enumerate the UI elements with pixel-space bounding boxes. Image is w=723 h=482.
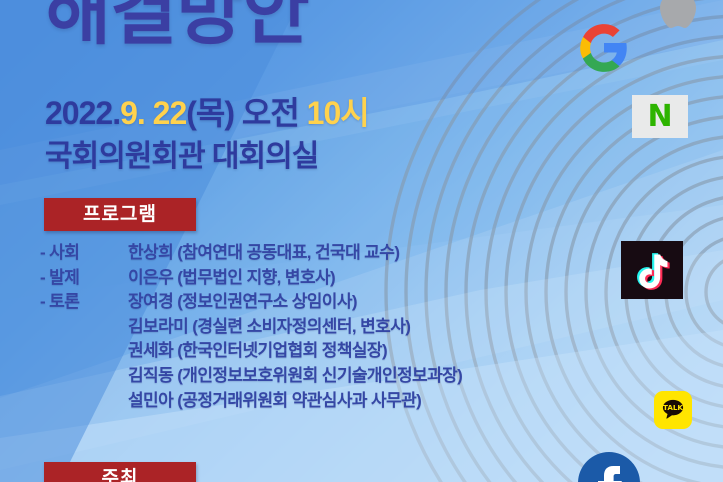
- poster-canvas: 해결방안 2022.9. 22(목) 오전 10시 국회의원회관 대회의실 프로…: [0, 0, 723, 482]
- page-title: 해결방안: [44, 0, 309, 49]
- program-person: 김보라미 (경실련 소비자정의센터, 변호사): [128, 312, 410, 337]
- kakaotalk-logo: TALK: [654, 391, 692, 429]
- program-list: - 사회 한상희 (참여연대 공동대표, 건국대 교수) - 발제 이은우 (법…: [40, 238, 462, 410]
- program-row: 김직동 (개인정보보호위원회 신기술개인정보과장): [40, 361, 462, 386]
- program-person: 김직동 (개인정보보호위원회 신기술개인정보과장): [128, 361, 462, 386]
- poster-text-content: 해결방안 2022.9. 22(목) 오전 10시 국회의원회관 대회의실 프로…: [0, 0, 560, 482]
- google-logo: [578, 22, 630, 74]
- time-highlight: 10시: [307, 95, 369, 131]
- program-row: - 발제 이은우 (법무법인 지향, 변호사): [40, 263, 462, 288]
- apple-logo: [648, 0, 704, 42]
- program-row: - 토론 장여경 (정보인권연구소 상임이사): [40, 287, 462, 312]
- naver-logo: N: [632, 95, 688, 138]
- date-highlight: 9. 22: [120, 95, 186, 131]
- program-row: - 사회 한상희 (참여연대 공동대표, 건국대 교수): [40, 238, 462, 263]
- event-datetime: 2022.9. 22(목) 오전 10시: [45, 88, 369, 134]
- program-row: 설민아 (공정거래위원회 약관심사과 사무관): [40, 386, 462, 411]
- program-role: - 발제: [40, 263, 128, 288]
- host-badge: 주최: [44, 462, 196, 482]
- event-venue: 국회의원회관 대회의실: [45, 131, 318, 175]
- program-role: - 사회: [40, 238, 128, 263]
- svg-text:TALK: TALK: [663, 403, 683, 412]
- program-person: 설민아 (공정거래위원회 약관심사과 사무관): [128, 386, 421, 411]
- program-role: - 토론: [40, 287, 128, 312]
- program-row: 김보라미 (경실련 소비자정의센터, 변호사): [40, 312, 462, 337]
- program-row: 권세화 (한국인터넷기업협회 정책실장): [40, 336, 462, 361]
- program-person: 장여경 (정보인권연구소 상임이사): [128, 287, 357, 312]
- date-middle: (목) 오전: [186, 95, 306, 131]
- naver-logo-letter: N: [647, 102, 672, 132]
- program-person: 이은우 (법무법인 지향, 변호사): [128, 263, 335, 288]
- tiktok-logo: [621, 241, 683, 299]
- facebook-logo: [578, 452, 640, 482]
- program-badge: 프로그램: [44, 198, 196, 231]
- date-prefix: 2022.: [45, 95, 120, 131]
- program-person: 권세화 (한국인터넷기업협회 정책실장): [128, 336, 387, 361]
- program-person: 한상희 (참여연대 공동대표, 건국대 교수): [128, 238, 399, 263]
